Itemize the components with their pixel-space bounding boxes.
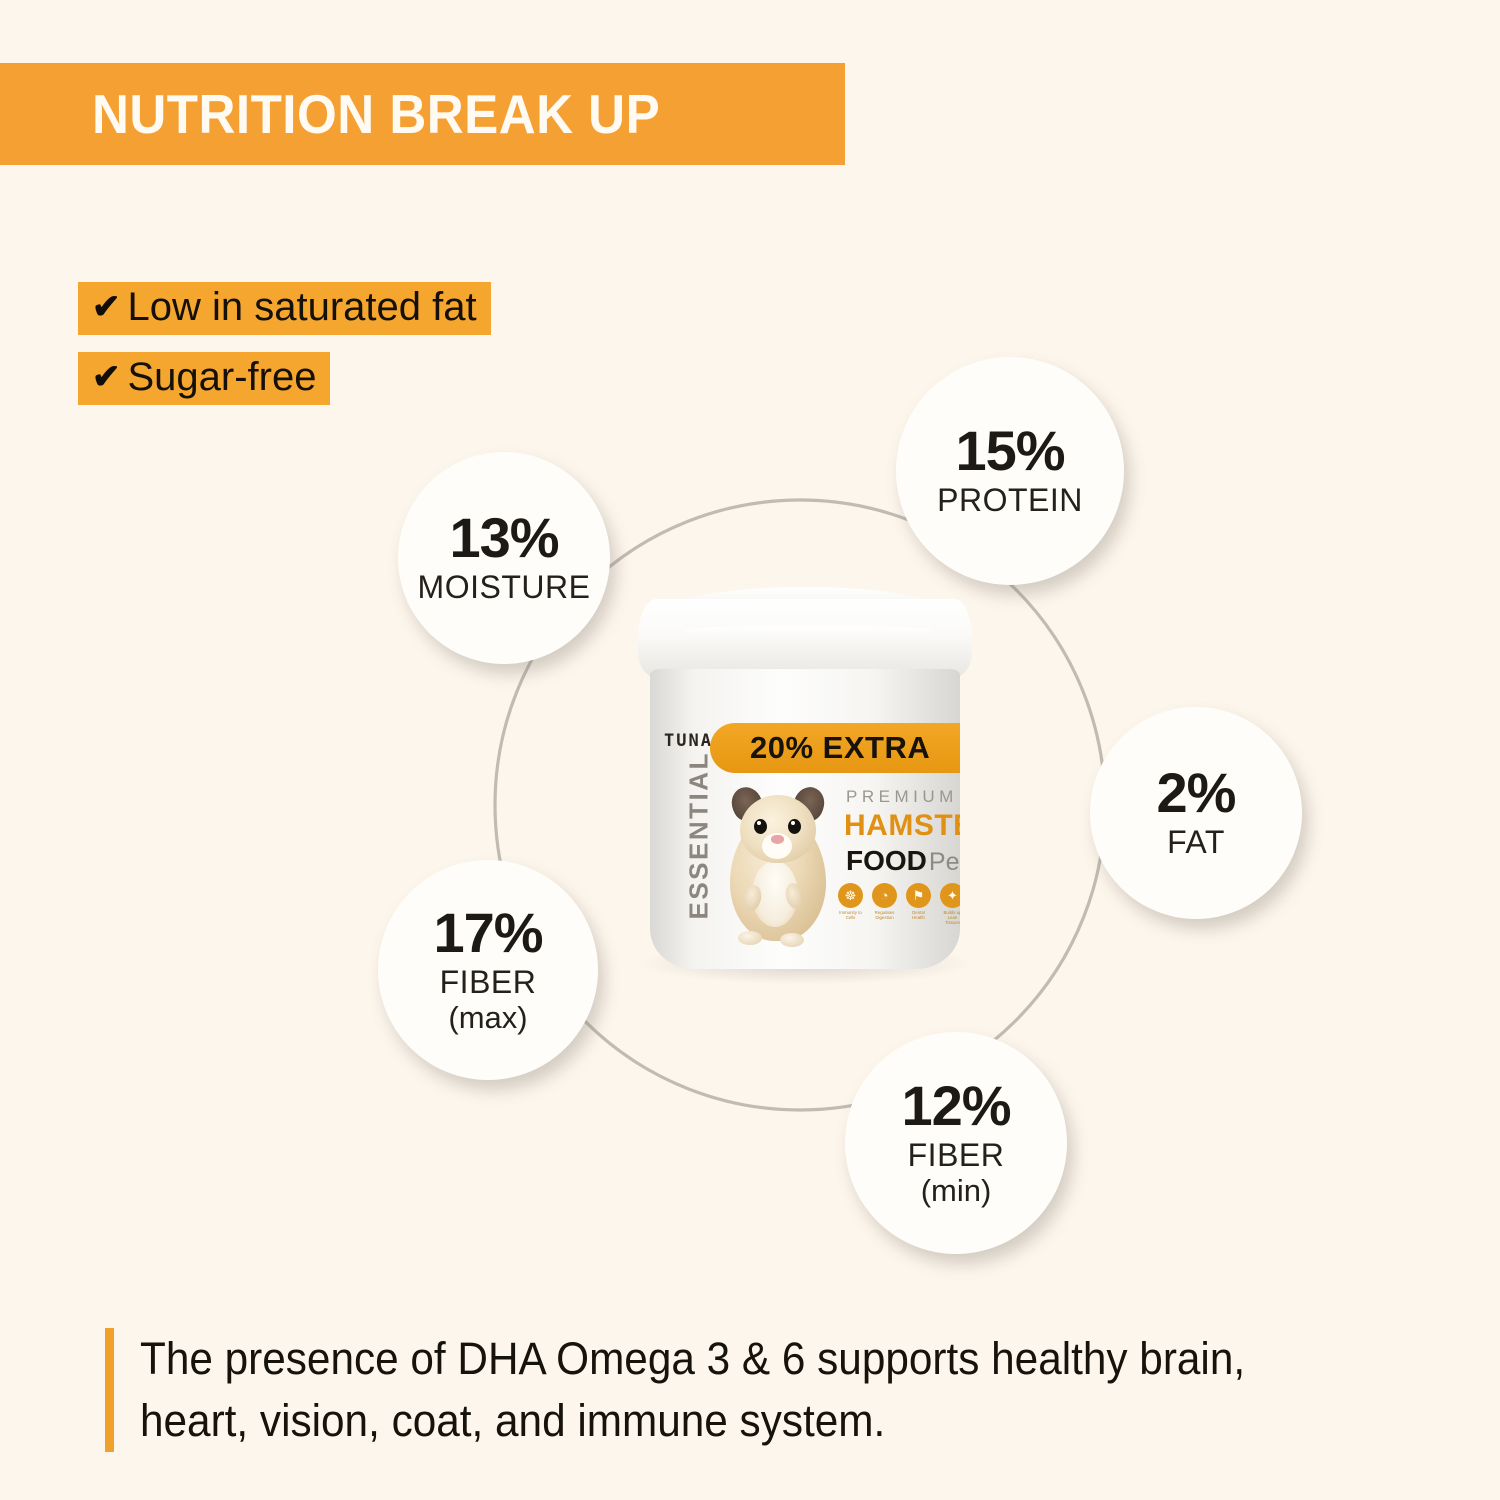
lean-tissue-icon: ✦ — [940, 883, 960, 908]
nutrition-bubble-fiber-min: 12% FIBER (min) — [845, 1032, 1067, 1254]
nutrition-bubble-moisture: 13% MOISTURE — [398, 452, 610, 664]
label-food: FOOD — [846, 845, 927, 877]
lid-highlight — [684, 625, 934, 637]
nutrition-label: FIBER — [908, 1138, 1005, 1174]
nutrition-label: MOISTURE — [418, 570, 591, 606]
benefit-icon-immunity: ☸ Immunity to Cells — [838, 883, 863, 925]
extra-promo-banner: 20% EXTRA — [710, 723, 960, 773]
nutrition-value: 17% — [433, 905, 542, 961]
feature-pill-list: ✔ Low in saturated fat ✔ Sugar-free — [78, 282, 491, 422]
immunity-cells-icon: ☸ — [838, 883, 863, 908]
label-premium: PREMIUM — [846, 787, 958, 807]
hamster-foot-left — [738, 931, 762, 945]
hamster-foot-right — [780, 933, 804, 947]
container-body: TUNAI® 20% EXTRA ESSENTIAL PREMIUM HAMST… — [650, 669, 960, 969]
page-title: NUTRITION BREAK UP — [92, 82, 660, 146]
nutrition-value: 13% — [449, 510, 558, 566]
nutrition-sublabel: (max) — [448, 1001, 527, 1035]
footer-accent-bar — [105, 1328, 114, 1452]
nutrition-value: 2% — [1157, 765, 1236, 821]
nutrition-bubble-fat: 2% FAT — [1090, 707, 1302, 919]
benefit-icon-row: ☸ Immunity to Cells ◔ Regulates Digestio… — [838, 883, 960, 925]
nutrition-bubble-protein: 15% PROTEIN — [896, 357, 1124, 585]
nutrition-bubble-fiber-max: 17% FIBER (max) — [378, 860, 598, 1080]
nutrition-label: FIBER — [440, 965, 537, 1001]
container-lid — [638, 599, 972, 679]
nutrition-value: 15% — [955, 423, 1064, 479]
benefit-icon-lean-tissue: ✦ Builds up Lean Tissues — [940, 883, 960, 925]
hamster-eye-right — [788, 819, 801, 834]
hamster-illustration — [714, 781, 842, 951]
digestion-icon: ◔ — [872, 883, 897, 908]
check-icon: ✔ — [92, 360, 121, 394]
footer-callout: The presence of DHA Omega 3 & 6 supports… — [105, 1328, 1405, 1452]
hamster-eye-left — [754, 819, 767, 834]
benefit-icon-caption: Dental Health — [906, 910, 931, 920]
feature-pill-label: Sugar-free — [128, 355, 317, 400]
page-header-bar: NUTRITION BREAK UP — [0, 63, 845, 165]
extra-promo-label: 20% EXTRA — [750, 730, 930, 766]
label-pellets: Pellets — [929, 848, 960, 877]
benefit-icon-caption: Immunity to Cells — [838, 910, 863, 920]
product-container-image: TUNAI® 20% EXTRA ESSENTIAL PREMIUM HAMST… — [618, 583, 990, 978]
benefit-icon-digestion: ◔ Regulates Digestion — [872, 883, 897, 925]
benefit-icon-caption: Builds up Lean Tissues — [940, 910, 960, 925]
feature-pill-label: Low in saturated fat — [128, 285, 477, 330]
check-icon: ✔ — [92, 290, 121, 324]
dental-health-icon: ⚑ — [906, 883, 931, 908]
nutrition-value: 12% — [901, 1078, 1010, 1134]
benefit-icon-caption: Regulates Digestion — [872, 910, 897, 920]
benefit-icon-dental: ⚑ Dental Health — [906, 883, 931, 925]
label-hamster: HAMSTER — [844, 809, 960, 843]
label-food-row: FOOD Pellets — [846, 845, 960, 877]
nutrition-label: FAT — [1167, 825, 1225, 861]
footer-text: The presence of DHA Omega 3 & 6 supports… — [140, 1328, 1329, 1452]
hamster-nose — [771, 835, 784, 844]
nutrition-sublabel: (min) — [921, 1174, 992, 1208]
feature-pill-low-saturated-fat: ✔ Low in saturated fat — [78, 282, 491, 335]
feature-pill-sugar-free: ✔ Sugar-free — [78, 352, 330, 405]
feature-pill-row: ✔ Sugar-free — [78, 352, 491, 422]
nutrition-label: PROTEIN — [937, 483, 1083, 519]
product-side-text: ESSENTIAL — [684, 770, 715, 920]
feature-pill-row: ✔ Low in saturated fat — [78, 282, 491, 352]
